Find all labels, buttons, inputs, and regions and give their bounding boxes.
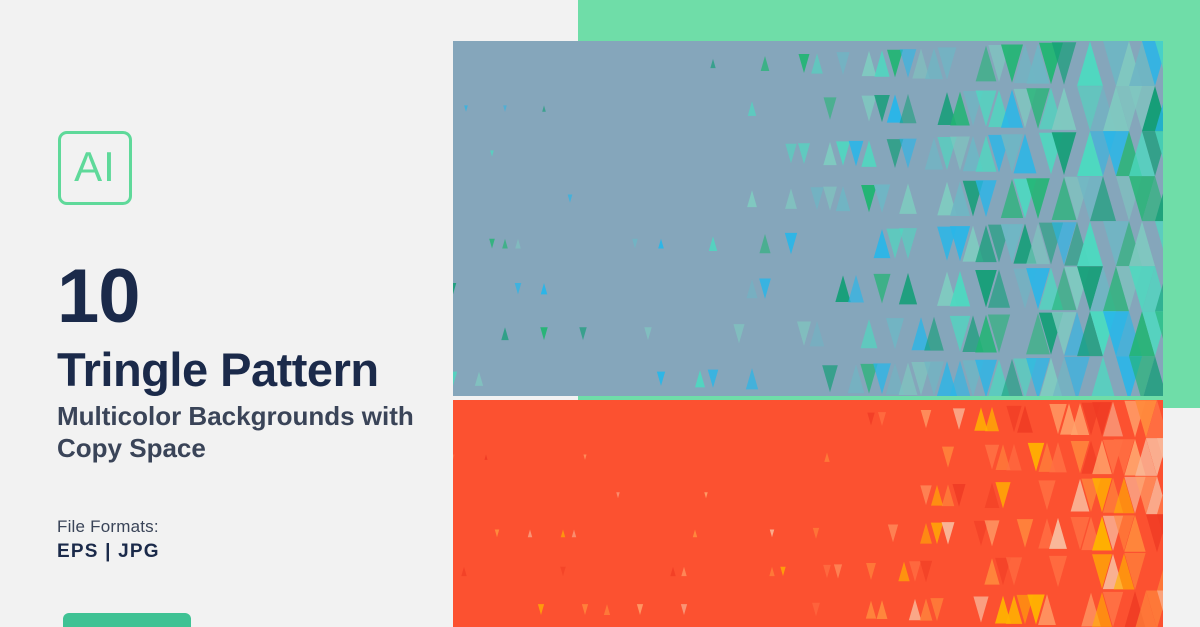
ai-badge-label: AI — [74, 146, 116, 188]
preview-panel-orange[interactable] — [453, 400, 1163, 627]
page-title: Tringle Pattern — [57, 345, 379, 394]
ai-format-badge: AI — [58, 131, 132, 205]
file-formats-label: File Formats: — [57, 517, 159, 537]
item-count: 10 — [57, 262, 140, 332]
preview-panel-blue[interactable] — [453, 41, 1163, 396]
file-formats-value: EPS | JPG — [57, 541, 160, 563]
download-button[interactable]: Download — [63, 613, 191, 627]
triangle-pattern-orange — [453, 400, 1163, 627]
page-subtitle: Multicolor Backgrounds with Copy Space — [57, 401, 457, 465]
info-column: AI 10 Tringle Pattern Multicolor Backgro… — [0, 0, 453, 627]
triangle-pattern-blue — [453, 41, 1163, 396]
poster-canvas: AI 10 Tringle Pattern Multicolor Backgro… — [0, 0, 1200, 627]
